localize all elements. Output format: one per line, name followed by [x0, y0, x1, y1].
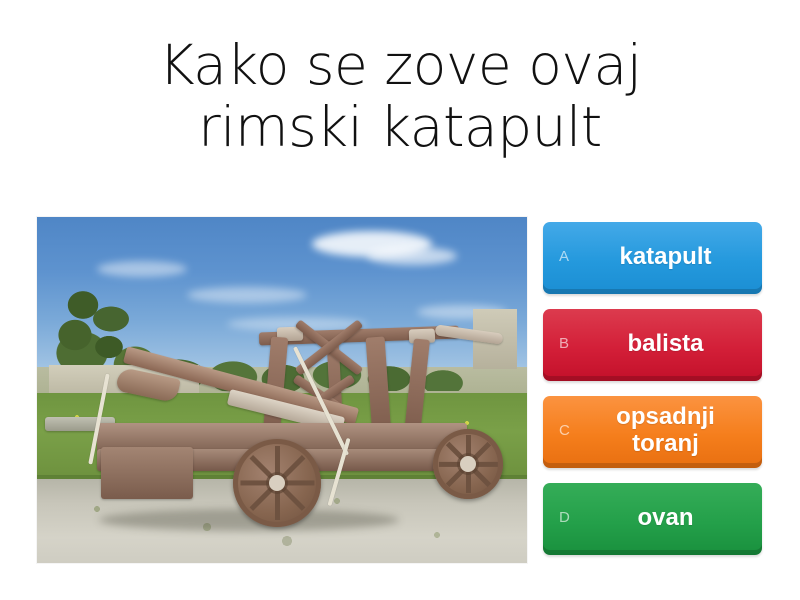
frame-arm-curve — [435, 324, 504, 344]
answer-label-b: balista — [589, 330, 752, 357]
wheel-rear — [433, 429, 503, 499]
answer-option-a[interactable]: A katapult — [543, 222, 762, 294]
answer-letter-d: D — [553, 510, 589, 525]
answer-label-a: katapult — [589, 243, 752, 270]
answer-letter-b: B — [553, 336, 589, 351]
answer-letter-a: A — [553, 249, 589, 264]
chassis-side-plank — [101, 447, 193, 499]
question-image — [37, 217, 527, 563]
question-title: Kako se zove ovaj rimski katapult — [0, 34, 800, 158]
catapult-photo — [37, 217, 527, 563]
answer-option-b[interactable]: B balista — [543, 309, 762, 381]
wheel-front — [233, 439, 321, 527]
answer-option-c[interactable]: C opsadnji toranj — [543, 396, 762, 468]
catapult-machine — [37, 217, 527, 563]
answer-letter-c: C — [553, 423, 589, 438]
answer-options: A katapult B balista C opsadnji toranj D… — [543, 222, 762, 570]
frame-post — [404, 338, 430, 435]
answer-option-d[interactable]: D ovan — [543, 483, 762, 555]
answer-label-c: opsadnji toranj — [589, 403, 752, 457]
quiz-screen: Kako se zove ovaj rimski katapult — [0, 0, 800, 600]
answer-label-d: ovan — [589, 504, 752, 531]
